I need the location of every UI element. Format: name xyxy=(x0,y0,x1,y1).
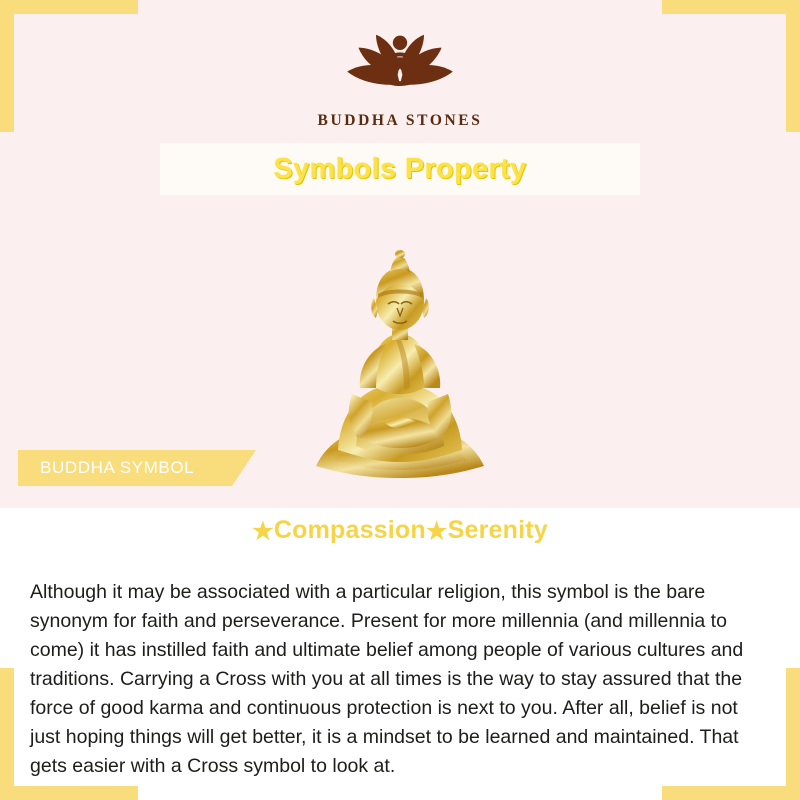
attribute-compassion: Compassion xyxy=(274,516,426,544)
title-banner: Symbols Property xyxy=(160,143,640,195)
frame-corner-bottom-right-horizontal xyxy=(662,786,800,800)
frame-corner-bottom-left-horizontal xyxy=(0,786,138,800)
description-paragraph: Although it may be associated with a par… xyxy=(30,578,772,781)
attributes-headline: ★Compassion★Serenity xyxy=(0,516,800,546)
frame-corner-top-right-horizontal xyxy=(662,0,800,14)
lotus-meditation-figure-icon xyxy=(320,22,480,110)
seated-golden-buddha-illustration xyxy=(300,198,500,488)
brand-logo-block: BUDDHA STONES xyxy=(0,22,800,130)
star-icon-right: ★ xyxy=(426,517,448,546)
frame-corner-bottom-left-vertical xyxy=(0,668,14,800)
brand-name: BUDDHA STONES xyxy=(0,112,800,130)
page-title: Symbols Property xyxy=(274,153,527,186)
symbol-tag-label: BUDDHA SYMBOL xyxy=(18,458,194,478)
star-icon-left: ★ xyxy=(252,517,274,546)
frame-corner-top-left-horizontal xyxy=(0,0,138,14)
attribute-serenity: Serenity xyxy=(448,516,548,544)
frame-corner-bottom-right-vertical xyxy=(786,668,800,800)
symbol-tag: BUDDHA SYMBOL xyxy=(18,450,194,486)
